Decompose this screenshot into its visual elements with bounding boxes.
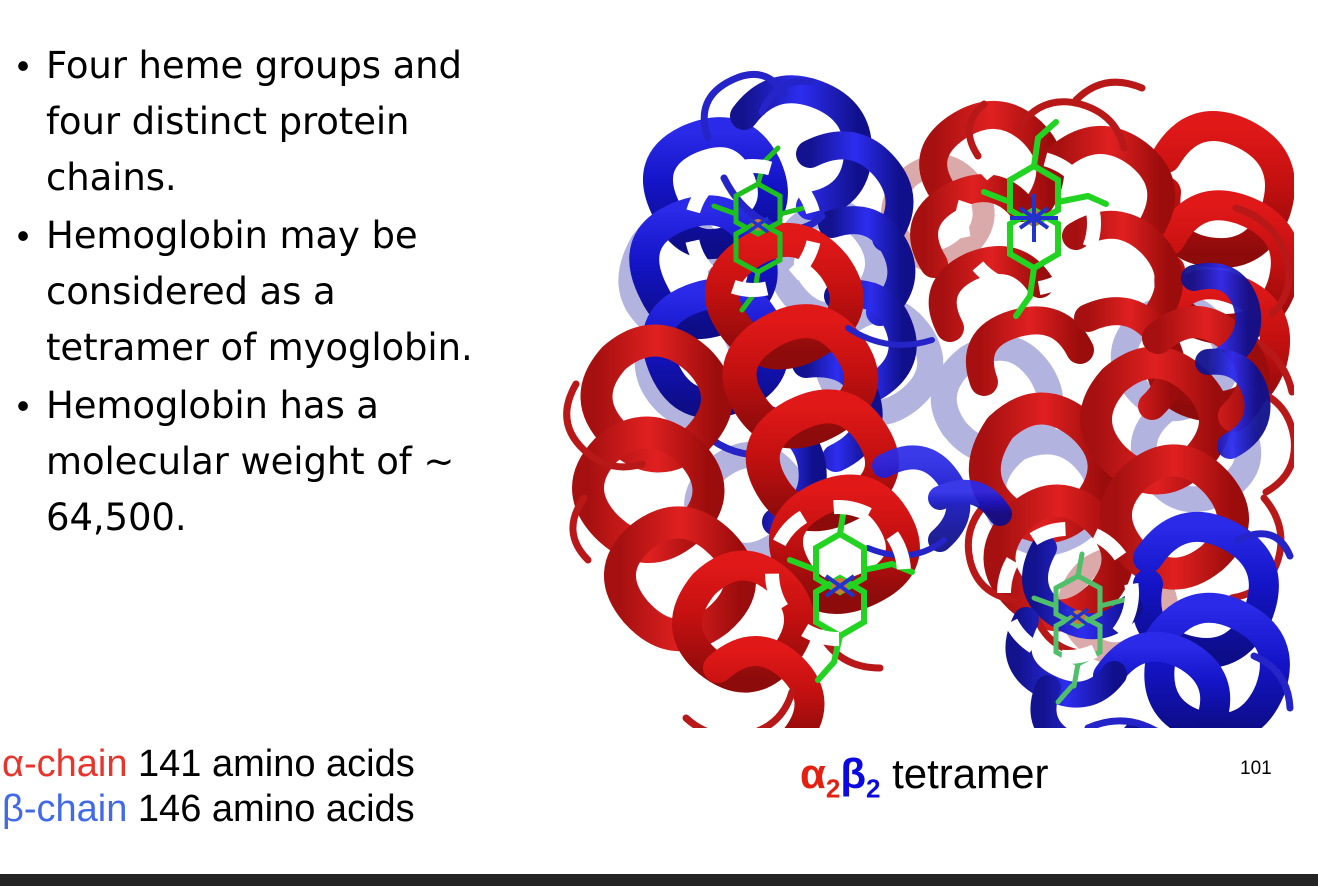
beta-chain-label: β-chain	[2, 788, 127, 830]
alpha-2-symbol: α2	[800, 750, 840, 797]
alpha-chain-legend-row: α-chain 141 amino acids	[2, 742, 415, 787]
alpha-glyph: α	[800, 750, 826, 797]
bullet-line: 64,500.	[46, 490, 454, 546]
bullet-item: • Hemoglobin has a molecular weight of ~…	[0, 378, 525, 546]
bullet-line: Hemoglobin has a	[46, 378, 454, 434]
beta-chain-legend-row: β-chain 146 amino acids	[2, 787, 415, 832]
beta-2-symbol: β2	[840, 750, 880, 797]
alpha-chain-label: α-chain	[2, 743, 127, 785]
bullet-list: • Four heme groups and four distinct pro…	[0, 38, 525, 548]
beta-chain-value: 146 amino acids	[138, 788, 415, 830]
slide-canvas: • Four heme groups and four distinct pro…	[0, 0, 1318, 874]
bullet-item-text: Hemoglobin has a molecular weight of ~ 6…	[46, 378, 454, 546]
beta-subscript: 2	[866, 773, 880, 803]
bullet-item: • Four heme groups and four distinct pro…	[0, 38, 525, 206]
bullet-line: molecular weight of ~	[46, 434, 454, 490]
beta-glyph: β	[840, 750, 866, 797]
bullet-item-text: Four heme groups and four distinct prote…	[46, 38, 462, 206]
alpha-subscript: 2	[826, 773, 840, 803]
bullet-line: considered as a	[46, 264, 473, 320]
hemoglobin-structure-figure	[548, 28, 1294, 728]
tetramer-caption: α2β2 tetramer	[800, 748, 1048, 814]
page-number: 101	[1240, 758, 1272, 780]
bullet-marker-icon: •	[0, 378, 46, 434]
chain-legend: α-chain 141 amino acids β-chain 146 amin…	[2, 742, 415, 832]
bullet-item: • Hemoglobin may be considered as a tetr…	[0, 208, 525, 376]
bullet-line: chains.	[46, 150, 462, 206]
bullet-line: four distinct protein	[46, 94, 462, 150]
hemoglobin-ribbon-svg	[548, 28, 1294, 728]
bullet-marker-icon: •	[0, 208, 46, 264]
tetramer-word: tetramer	[880, 750, 1048, 797]
bullet-marker-icon: •	[0, 38, 46, 94]
bullet-line: tetramer of myoglobin.	[46, 320, 473, 376]
bullet-line: Hemoglobin may be	[46, 208, 473, 264]
bullet-line: Four heme groups and	[46, 38, 462, 94]
bullet-item-text: Hemoglobin may be considered as a tetram…	[46, 208, 473, 376]
bottom-bar	[0, 874, 1318, 886]
alpha-chain-value: 141 amino acids	[138, 743, 415, 785]
